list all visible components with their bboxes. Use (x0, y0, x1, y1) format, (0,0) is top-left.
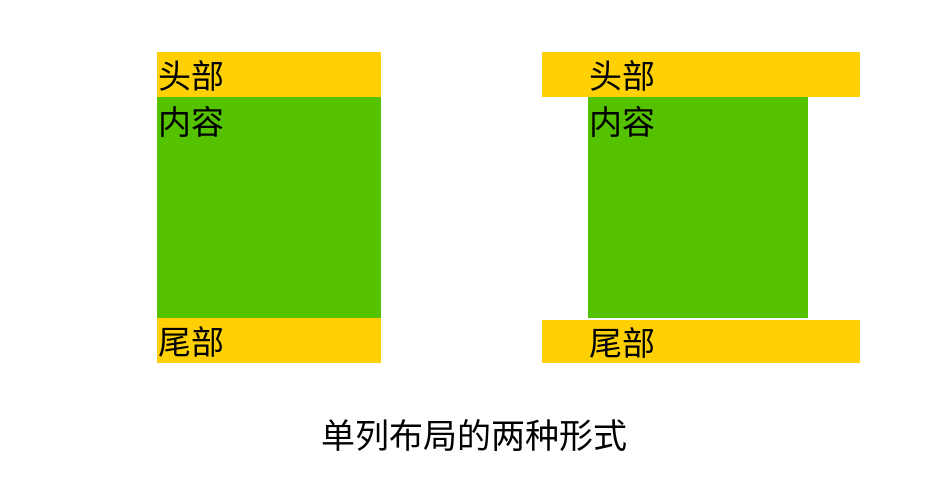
diagram-canvas: 头部 内容 尾部 头部 内容 尾部 单列布局的两种形式 (0, 0, 948, 488)
form-b-content-label: 内容 (589, 100, 655, 145)
form-a-footer-label: 尾部 (158, 320, 224, 363)
form-b-content-band: 内容 (588, 97, 808, 318)
form-a-header-label: 头部 (158, 54, 224, 97)
form-a-footer-band: 尾部 (157, 318, 381, 363)
form-b-footer-band: 尾部 (542, 320, 860, 363)
form-b-footer-label: 尾部 (589, 321, 655, 363)
form-a-header-band: 头部 (157, 52, 381, 97)
layout-diagram-form-a: 头部 内容 尾部 (157, 52, 381, 363)
form-b-header-label: 头部 (589, 54, 655, 97)
figure-caption: 单列布局的两种形式 (0, 415, 948, 459)
layout-diagram-form-b: 头部 内容 尾部 (542, 52, 860, 363)
form-a-content-label: 内容 (158, 100, 224, 145)
form-b-header-band: 头部 (542, 52, 860, 97)
form-a-content-band: 内容 (157, 97, 381, 318)
